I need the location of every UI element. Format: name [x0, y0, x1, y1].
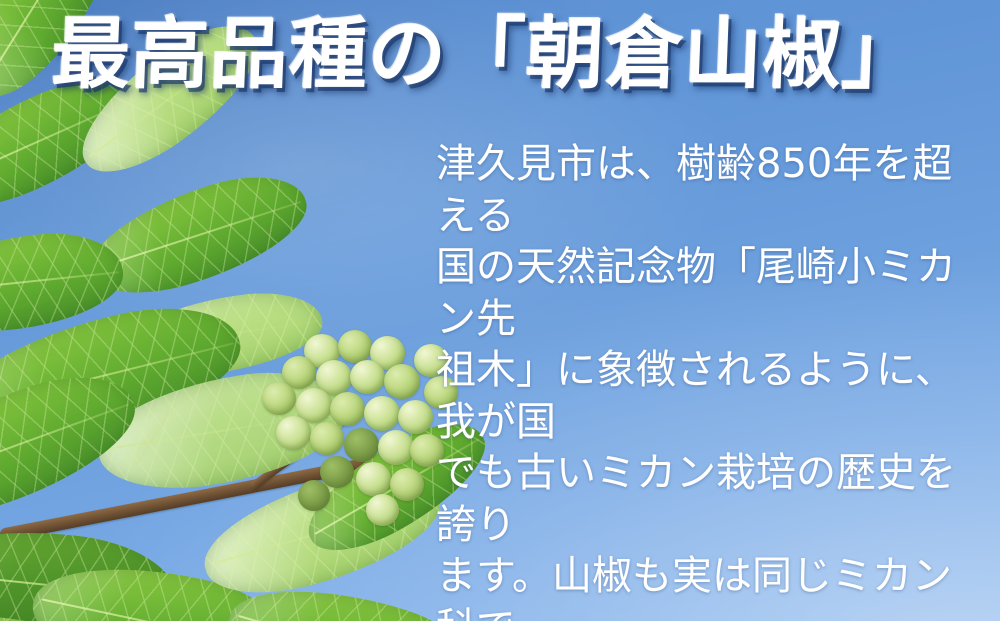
sansho-berry [330, 392, 365, 426]
sansho-berry [390, 468, 424, 501]
page-title: 最高品種の「朝倉山椒」 [51, 16, 923, 94]
description-line: でも古いミカン栽培の歴史を誇り [436, 448, 972, 551]
sansho-berry [338, 330, 372, 363]
sansho-berry [344, 428, 379, 462]
sansho-berry [384, 364, 420, 399]
description-line: 津久見市は、樹齢850年を超える [436, 139, 972, 242]
banner-image: 最高品種の「朝倉山椒」 津久見市は、樹齢850年を超える 国の天然記念物「尾崎小… [0, 0, 1000, 621]
description-line: 国の天然記念物「尾崎小ミカン先 [436, 242, 972, 345]
sansho-berry [276, 416, 311, 450]
sansho-berry [320, 456, 354, 488]
sansho-berry [262, 382, 296, 415]
sansho-berry [378, 430, 414, 465]
description-line: 祖木」に象徴されるように、我が国 [436, 345, 972, 448]
sansho-berry [364, 396, 400, 431]
sansho-berry [398, 400, 433, 434]
description-line: ます。山椒も実は同じミカン科で [436, 551, 972, 621]
sansho-berry [298, 480, 330, 511]
sansho-berry [356, 462, 391, 496]
description-text: 津久見市は、樹齢850年を超える 国の天然記念物「尾崎小ミカン先 祖木」に象徴さ… [436, 139, 972, 621]
sansho-berry [350, 360, 385, 394]
sansho-berry [310, 422, 344, 455]
sansho-berry [366, 494, 399, 526]
